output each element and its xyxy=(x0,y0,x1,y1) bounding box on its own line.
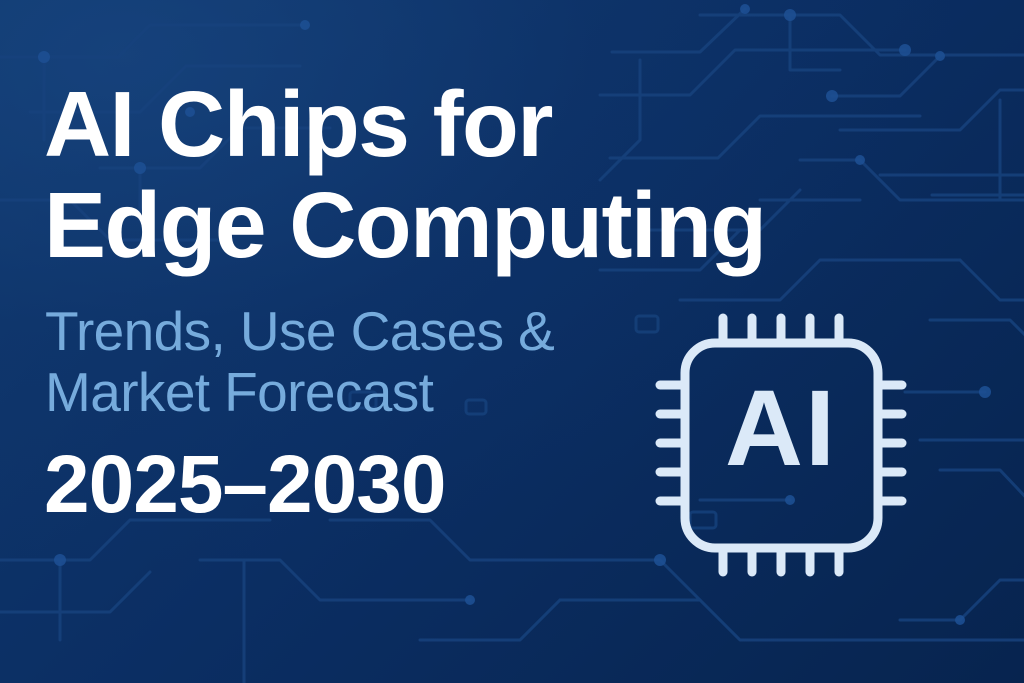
headline-line-1: AI Chips for xyxy=(44,74,824,175)
headline-block: AI Chips for Edge Computing xyxy=(44,74,824,276)
headline-line-2: Edge Computing xyxy=(44,175,824,276)
subtitle-line-2: Market Forecast xyxy=(45,362,665,423)
subtitle-block: Trends, Use Cases & Market Forecast xyxy=(45,301,665,423)
chip-label: AI xyxy=(725,367,837,488)
subtitle-line-1: Trends, Use Cases & xyxy=(45,301,665,362)
ai-chip-icon: AI xyxy=(640,300,920,590)
title-card-canvas: AI Chips for Edge Computing Trends, Use … xyxy=(0,0,1024,683)
year-range: 2025–2030 xyxy=(44,440,445,530)
ai-chip-icon-wrapper: AI xyxy=(640,300,920,590)
